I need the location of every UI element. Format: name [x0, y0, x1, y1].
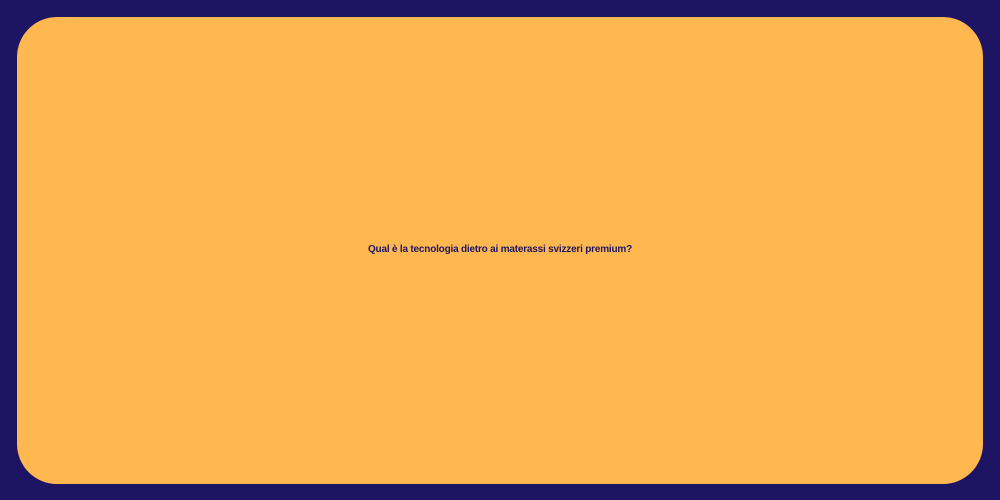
- banner-heading: Qual è la tecnologia dietro ai materassi…: [17, 244, 983, 257]
- banner-panel: Qual è la tecnologia dietro ai materassi…: [17, 17, 983, 484]
- banner-frame: Qual è la tecnologia dietro ai materassi…: [0, 0, 1000, 500]
